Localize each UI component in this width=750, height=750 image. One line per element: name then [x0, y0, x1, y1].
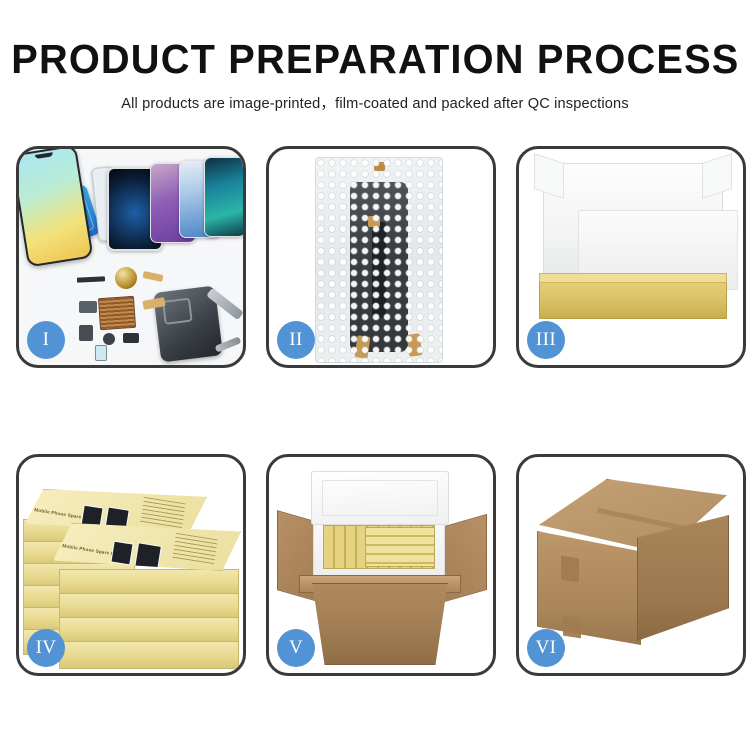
process-step-6: VI: [516, 454, 746, 676]
component-strip-2: [79, 301, 97, 313]
carton-left-face: [537, 531, 641, 645]
step-badge-4: IV: [27, 629, 65, 667]
yellow-box-lip: [539, 273, 727, 283]
process-step-grid: I II: [16, 146, 734, 676]
box-spec-lines: [140, 497, 186, 529]
yellow-boxes-inside-secondary: [365, 527, 435, 567]
product-preparation-infographic: PRODUCT PREPARATION PROCESS All products…: [0, 0, 750, 750]
bubble-texture: [316, 158, 442, 362]
stacked-box: [59, 617, 239, 643]
yellow-box-tray: [539, 277, 727, 319]
carton-front-face: [303, 583, 457, 665]
process-step-1: I: [16, 146, 246, 368]
carton-tape-upper: [561, 556, 579, 583]
box-product-image-2: [134, 542, 162, 571]
speaker-module: [115, 267, 137, 289]
component-strip-4: [103, 333, 115, 345]
stacked-box: [59, 593, 239, 619]
step-badge-6: VI: [527, 629, 565, 667]
bubble-wrap-bag: [315, 157, 443, 363]
step-badge-1: I: [27, 321, 65, 359]
phone-large-display: [19, 149, 94, 267]
stacked-box: [59, 569, 239, 595]
process-step-5: V: [266, 454, 496, 676]
flex-cable-1: [142, 271, 163, 282]
foam-lid: [543, 163, 723, 285]
header: PRODUCT PREPARATION PROCESS All products…: [0, 0, 750, 113]
stacked-box: [59, 641, 239, 669]
component-strip-1: [77, 276, 105, 282]
component-strip-3: [79, 325, 93, 341]
foam-box-lid: [311, 471, 449, 525]
box-spec-lines: [172, 533, 218, 565]
step-badge-3: III: [527, 321, 565, 359]
component-strip-6: [95, 345, 107, 361]
component-strip-5: [123, 333, 139, 343]
box-product-image-1: [110, 541, 133, 566]
process-step-3: III: [516, 146, 746, 368]
carton-tape-lower: [563, 616, 581, 639]
phone-screen-d: [204, 157, 243, 237]
process-step-2: II: [266, 146, 496, 368]
page-title: PRODUCT PREPARATION PROCESS: [11, 38, 739, 81]
step-badge-5: V: [277, 629, 315, 667]
screw-grid: [98, 296, 136, 330]
process-step-4: Mobile Phone Spare Parts Mobile Phone Sp…: [16, 454, 246, 676]
page-subtitle: All products are image-printed，film-coat…: [0, 92, 750, 113]
step-badge-2: II: [277, 321, 315, 359]
